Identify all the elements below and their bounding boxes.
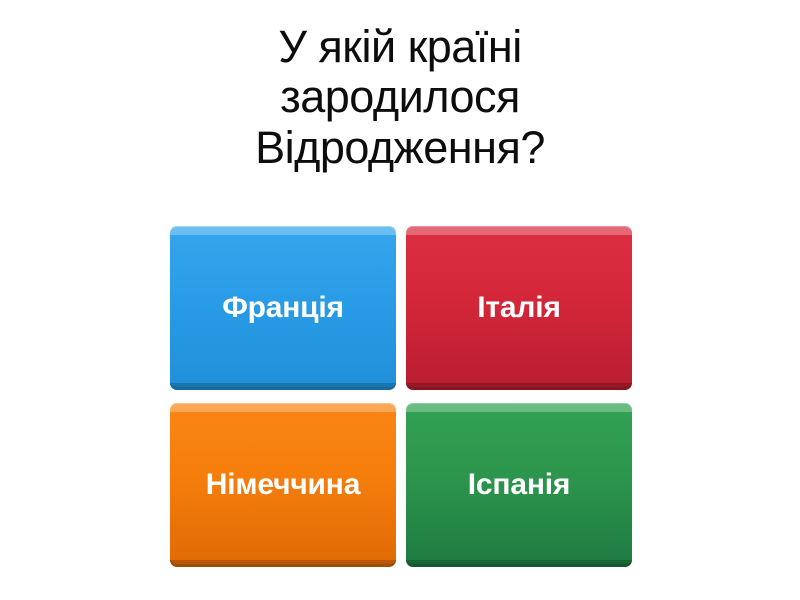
question-text: У якій країні зародилося Відродження? <box>185 22 615 173</box>
answer-grid: Франція Італія Німеччина Іспанія <box>170 226 632 567</box>
answer-option-2[interactable]: Італія <box>406 226 632 390</box>
quiz-stage: У якій країні зародилося Відродження? Фр… <box>0 0 800 600</box>
tile-base-rim <box>406 383 632 390</box>
tile-base-rim <box>406 560 632 567</box>
tile-top-highlight <box>406 403 632 412</box>
tile-base-rim <box>170 383 396 390</box>
answer-option-3-label: Німеччина <box>200 468 366 502</box>
tile-base-rim <box>170 560 396 567</box>
tile-top-highlight <box>406 226 632 235</box>
answer-option-4[interactable]: Іспанія <box>406 403 632 567</box>
tile-top-highlight <box>170 226 396 235</box>
answer-option-1[interactable]: Франція <box>170 226 396 390</box>
answer-option-4-label: Іспанія <box>462 468 576 502</box>
answer-option-3[interactable]: Німеччина <box>170 403 396 567</box>
answer-option-2-label: Італія <box>471 291 566 325</box>
answer-option-1-label: Франція <box>216 291 350 325</box>
tile-top-highlight <box>170 403 396 412</box>
